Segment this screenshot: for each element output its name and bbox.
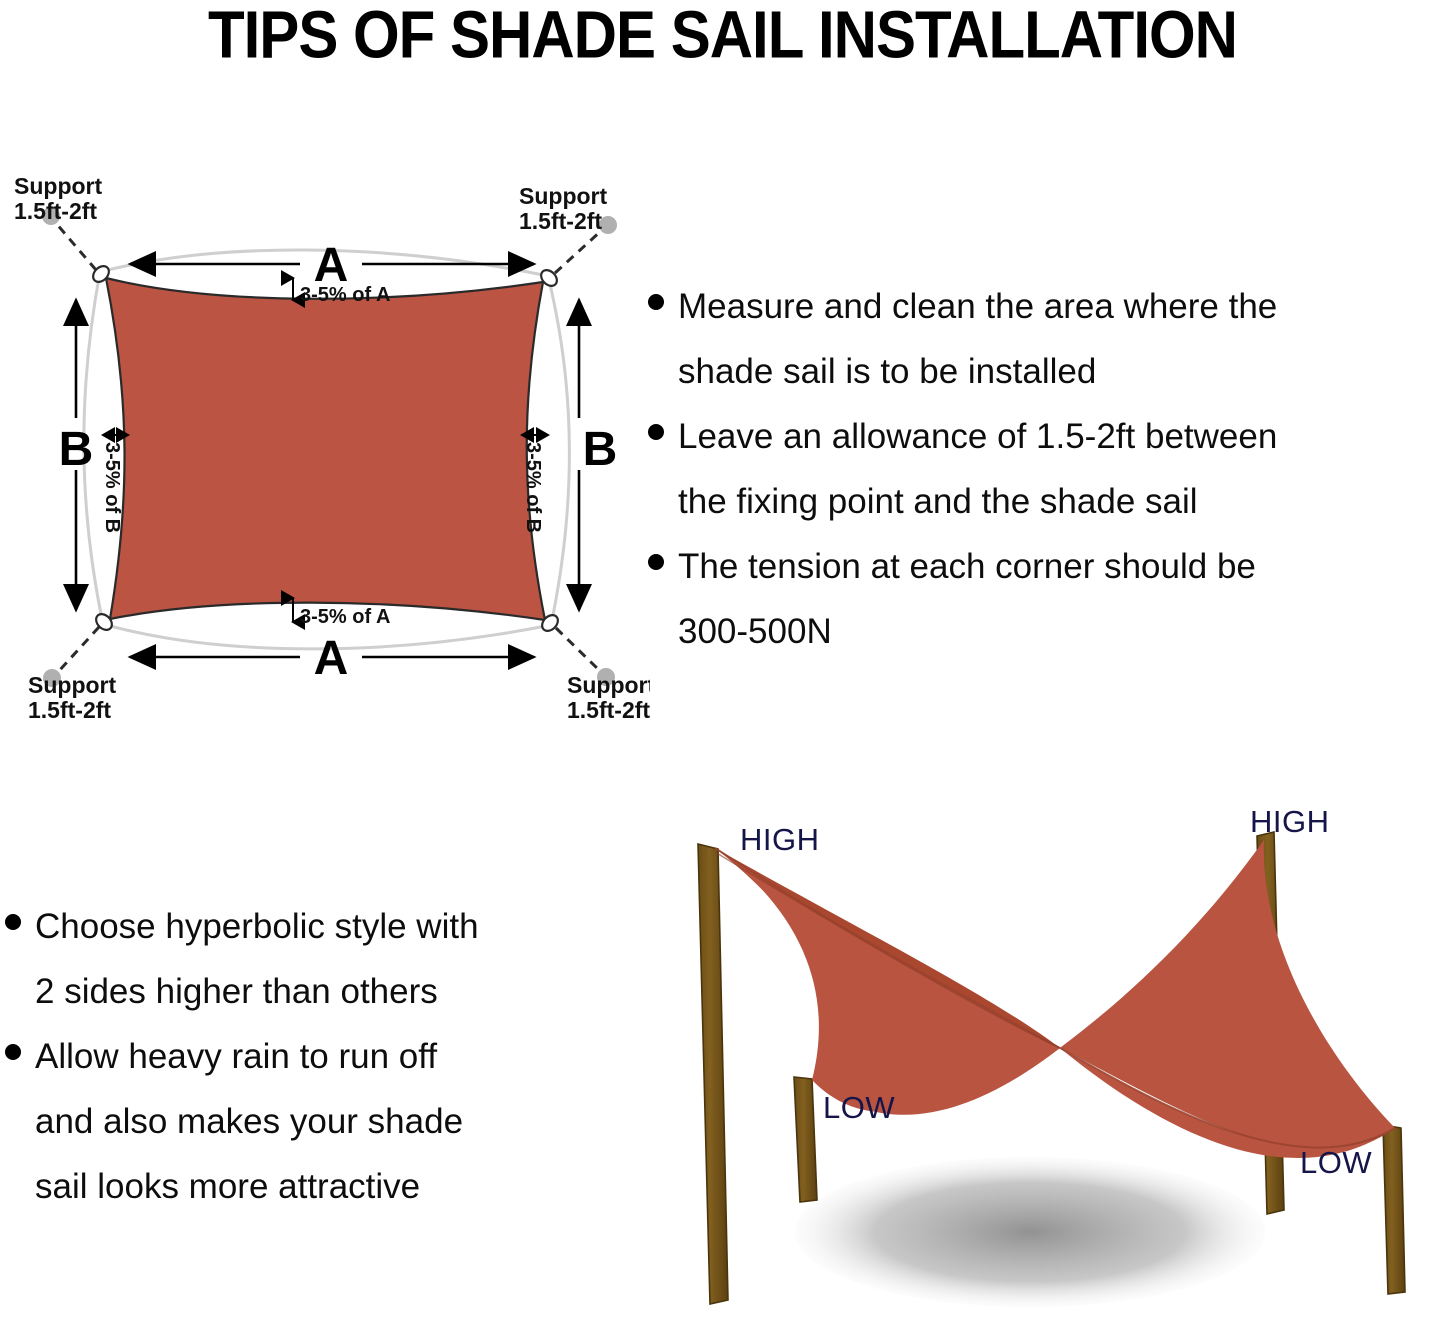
page-title: TIPS OF SHADE SAIL INSTALLATION: [0, 0, 1445, 73]
list-item: Choose hyperbolic style with: [5, 895, 625, 958]
support-leader-bottom-left: [58, 627, 99, 672]
bullet-spacer-icon: [5, 979, 21, 995]
label-high-left: HIGH: [740, 822, 820, 858]
curve-callout-bottom-label: 3-5% of A: [300, 606, 390, 628]
support-label-bottom-left-line1: Support: [28, 672, 116, 698]
bullet-dot-icon: [5, 914, 21, 930]
tip-text: the fixing point and the shade sail: [678, 470, 1198, 533]
list-item: sail looks more attractive: [5, 1155, 625, 1218]
dimension-label-right-b: B: [583, 423, 618, 476]
bullet-dot-icon: [648, 554, 664, 570]
list-item: Measure and clean the area where the: [648, 275, 1445, 338]
curve-callout-top-label: 3-5% of A: [300, 284, 390, 306]
label-low-right: LOW: [1300, 1145, 1372, 1181]
support-label-bottom-right-line2: 1.5ft-2ft: [567, 697, 650, 723]
tip-text: shade sail is to be installed: [678, 340, 1096, 403]
bullet-spacer-icon: [648, 359, 664, 375]
bullet-spacer-icon: [5, 1109, 21, 1125]
dimension-label-left-b: B: [59, 423, 94, 476]
support-leader-bottom-right: [556, 628, 600, 671]
tip-text: 300-500N: [678, 600, 832, 663]
list-item: shade sail is to be installed: [648, 340, 1445, 403]
rectangular-shade-sail-dimension-diagram: Support 1.5ft-2ft Support 1.5ft-2ft Supp…: [0, 160, 650, 730]
tip-text: 2 sides higher than others: [35, 960, 438, 1023]
tips-list-bottom: Choose hyperbolic style with 2 sides hig…: [5, 895, 625, 1220]
pole-low-left: [794, 1077, 817, 1202]
curve-callout-right-label: 3-5% of B: [522, 442, 544, 533]
bullet-spacer-icon: [5, 1174, 21, 1190]
bullet-dot-icon: [5, 1044, 21, 1060]
tip-text: Choose hyperbolic style with: [35, 895, 479, 958]
label-low-left: LOW: [823, 1090, 895, 1126]
tip-text: and also makes your shade: [35, 1090, 463, 1153]
tips-list-right: Measure and clean the area where the sha…: [648, 275, 1445, 665]
curve-callout-left-label: 3-5% of B: [101, 442, 123, 533]
tip-text: Measure and clean the area where the: [678, 275, 1277, 338]
pole-high-left: [698, 844, 728, 1304]
list-item: Allow heavy rain to run off: [5, 1025, 625, 1088]
support-label-bottom-right-line1: Support: [567, 672, 650, 698]
support-label-top-right-line1: Support: [519, 183, 607, 209]
bullet-dot-icon: [648, 424, 664, 440]
label-high-right: HIGH: [1250, 804, 1330, 840]
bullet-spacer-icon: [648, 489, 664, 505]
bullet-dot-icon: [648, 294, 664, 310]
tip-text: The tension at each corner should be: [678, 535, 1256, 598]
list-item: Leave an allowance of 1.5-2ft between: [648, 405, 1445, 468]
support-label-top-left-line1: Support: [14, 173, 102, 199]
tip-text: Leave an allowance of 1.5-2ft between: [678, 405, 1277, 468]
shade-sail-body: [106, 278, 545, 620]
tip-text: sail looks more attractive: [35, 1155, 420, 1218]
ground-shadow: [795, 1157, 1265, 1307]
bullet-spacer-icon: [648, 619, 664, 635]
list-item: the fixing point and the shade sail: [648, 470, 1445, 533]
list-item: The tension at each corner should be: [648, 535, 1445, 598]
list-item: 2 sides higher than others: [5, 960, 625, 1023]
support-leader-top-left: [55, 222, 96, 270]
list-item: 300-500N: [648, 600, 1445, 663]
tip-text: Allow heavy rain to run off: [35, 1025, 437, 1088]
pole-low-right: [1383, 1125, 1405, 1294]
support-leader-top-right: [555, 230, 602, 273]
support-label-top-left-line2: 1.5ft-2ft: [14, 198, 97, 224]
hyperbolic-shade-sail-illustration: HIGH HIGH LOW LOW: [660, 780, 1445, 1319]
support-label-top-right-line2: 1.5ft-2ft: [519, 208, 602, 234]
dimension-label-bottom-a: A: [314, 632, 349, 685]
list-item: and also makes your shade: [5, 1090, 625, 1153]
sail-right-lobe: [1060, 840, 1395, 1150]
support-label-bottom-left-line2: 1.5ft-2ft: [28, 697, 111, 723]
